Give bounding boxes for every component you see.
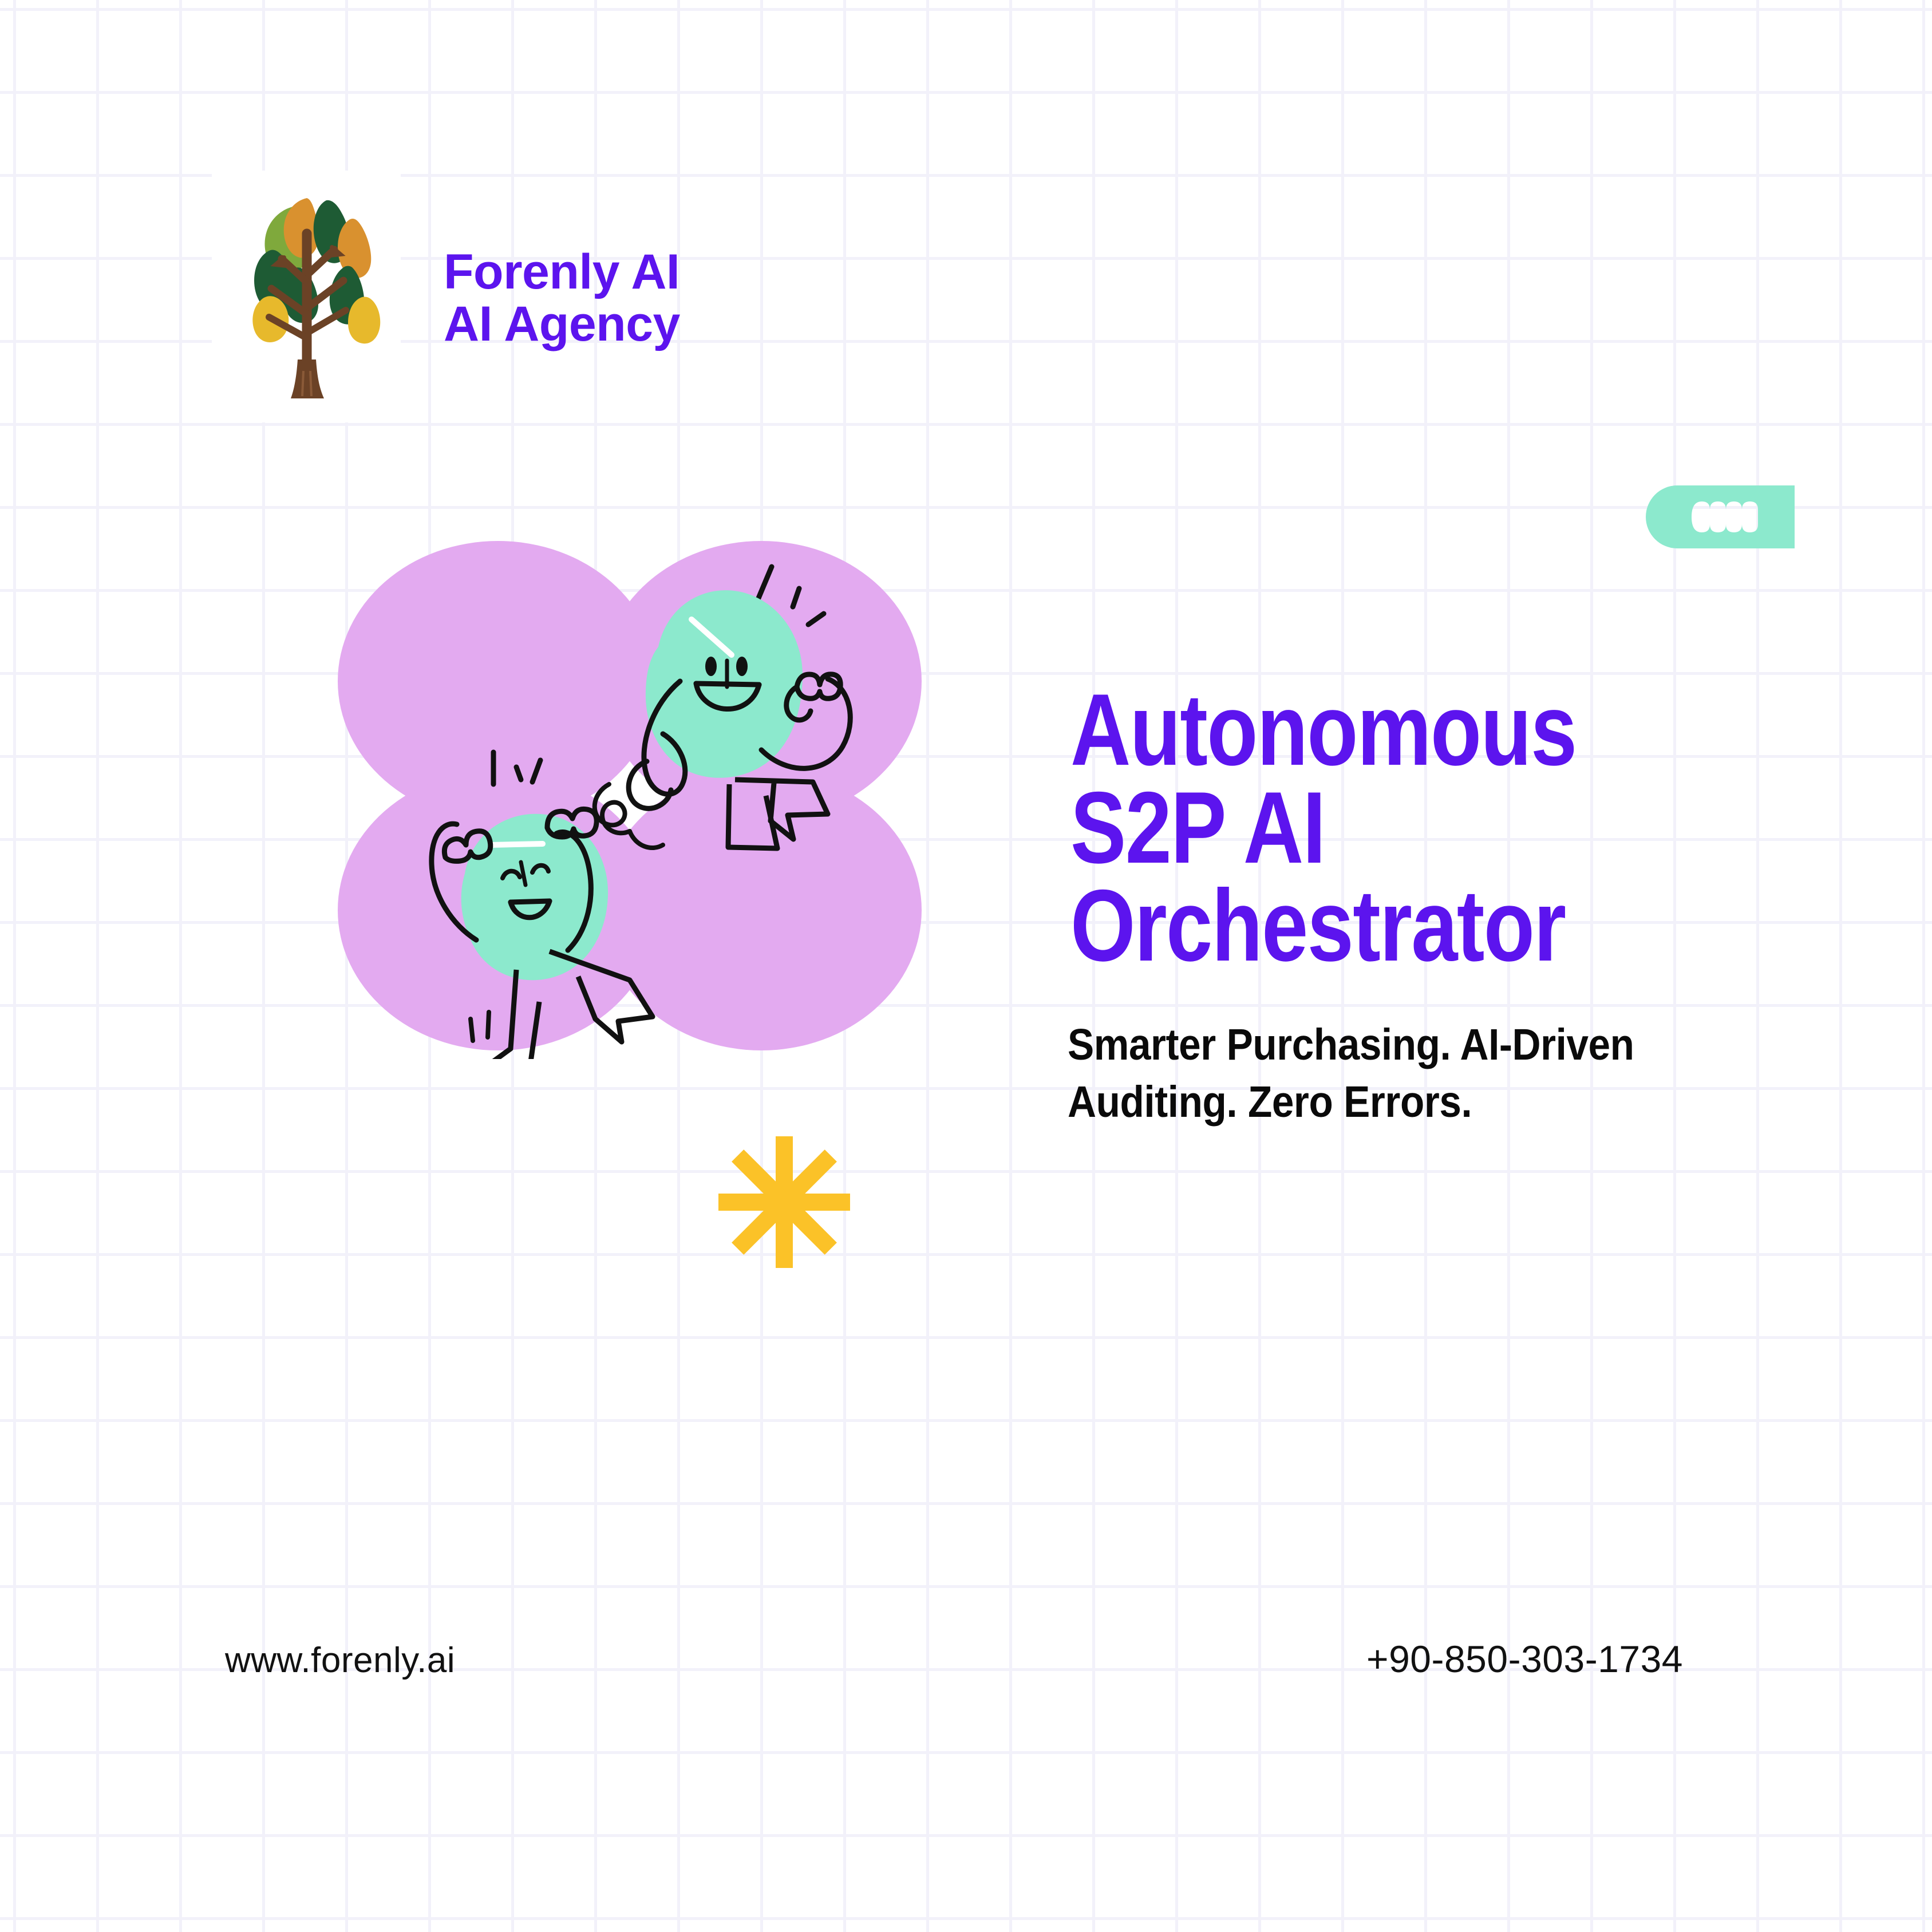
brand-name-line2: AI Agency	[444, 298, 680, 350]
headline-line-1: Autonomous	[1070, 681, 1625, 779]
headline-line-3: Orchestrator	[1070, 877, 1625, 975]
celebration-illustration	[309, 515, 1042, 1059]
brand-wordmark: Forenly AI AI Agency	[444, 246, 680, 350]
brand-logo-card	[212, 171, 401, 422]
poster-canvas: Forenly AI AI Agency	[0, 0, 1932, 1932]
wavy-notch-icon	[1646, 485, 1795, 548]
tree-logo-icon	[234, 188, 388, 411]
brand-name-line1: Forenly AI	[444, 246, 680, 298]
footer-phone[interactable]: +90-850-303-1734	[1366, 1637, 1683, 1681]
headline-line-2: S2P AI	[1070, 779, 1625, 877]
footer-website[interactable]: www.forenly.ai	[225, 1640, 455, 1681]
subheadline: Smarter Purchasing. AI-Driven Auditing. …	[1068, 1016, 1645, 1131]
page-title: Autonomous S2P AI Orchestrator	[1070, 681, 1625, 975]
eight-point-asterisk-icon	[718, 1136, 850, 1268]
